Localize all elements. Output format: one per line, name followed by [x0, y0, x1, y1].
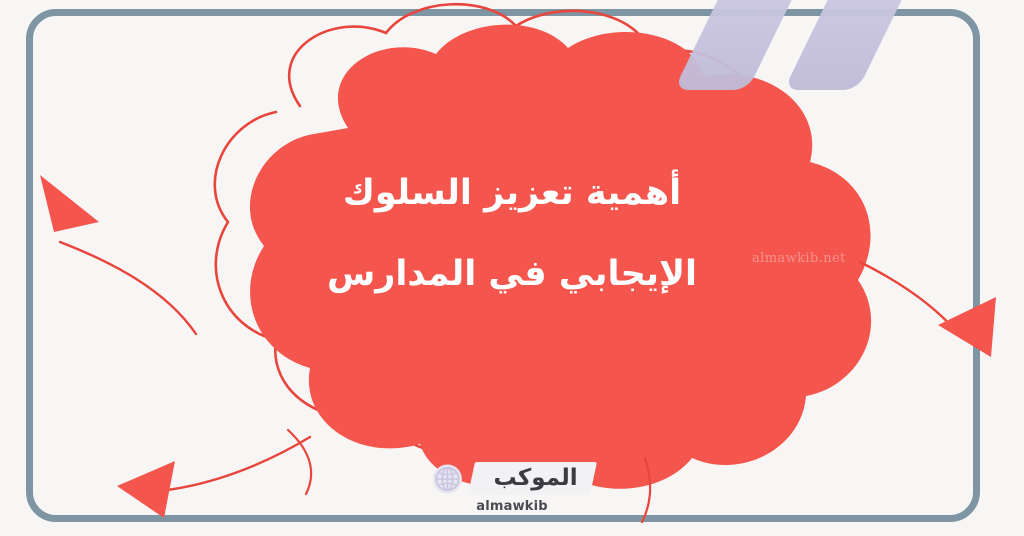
cloud-solid-shape — [250, 25, 871, 489]
brand-logo[interactable]: الموكب almawkib — [430, 462, 593, 514]
logo-name-ar: الموكب — [494, 466, 578, 490]
logo-ribbon: الموكب — [468, 462, 597, 495]
cover-canvas: أهمية تعزيز السلوك الإيجابي في المدارس a… — [0, 0, 1024, 536]
globe-icon — [430, 462, 464, 496]
arrow-bottom-left — [117, 437, 310, 518]
logo-name-en: almawkib — [476, 499, 548, 514]
arrow-top-left — [40, 175, 196, 334]
cloud-and-arrows-artwork — [0, 0, 1024, 536]
logo-row: الموكب — [430, 462, 593, 496]
arrow-right — [860, 262, 996, 357]
